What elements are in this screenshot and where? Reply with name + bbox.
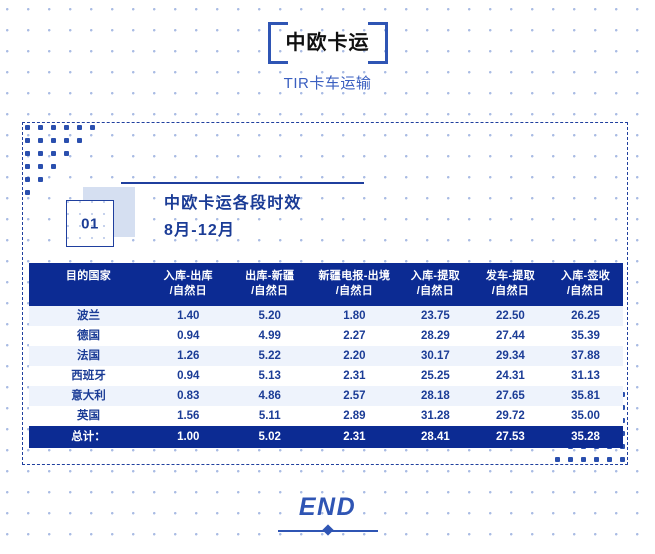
cell-country: 英国 xyxy=(29,406,148,426)
cell-v6: 35.81 xyxy=(548,386,623,406)
cell-v5: 22.50 xyxy=(473,306,548,326)
cell-v3: 2.20 xyxy=(311,346,398,366)
cell-v6: 26.25 xyxy=(548,306,623,326)
cell-v5: 29.34 xyxy=(473,346,548,366)
cell-country: 意大利 xyxy=(29,386,148,406)
end-marker: END xyxy=(0,495,655,520)
cell-total-v1: 1.00 xyxy=(148,426,229,448)
cell-v3: 2.27 xyxy=(311,326,398,346)
cell-v2: 5.13 xyxy=(229,366,311,386)
column-header-xinjiang-exit: 新疆电报-出境/自然日 xyxy=(311,263,398,306)
cell-v1: 0.94 xyxy=(148,366,229,386)
cell-v1: 0.94 xyxy=(148,326,229,346)
cell-v2: 4.86 xyxy=(229,386,311,406)
table-header-row: 目的国家 入库-出库/自然日 出库-新疆/自然日 新疆电报-出境/自然日 入库-… xyxy=(29,263,623,306)
cell-v2: 4.99 xyxy=(229,326,311,346)
column-header-outbound-xinjiang: 出库-新疆/自然日 xyxy=(229,263,311,306)
section-heading-line1: 中欧卡运各段时效 xyxy=(164,190,364,217)
cell-country: 西班牙 xyxy=(29,366,148,386)
cell-total-v6: 35.28 xyxy=(548,426,623,448)
cell-v6: 35.39 xyxy=(548,326,623,346)
cell-v2: 5.22 xyxy=(229,346,311,366)
slide-header: 中欧卡运 TIR卡车运输 xyxy=(0,0,655,101)
badge-box: 01 xyxy=(66,200,114,247)
cell-v1: 0.83 xyxy=(148,386,229,406)
section-heading-text: 中欧卡运各段时效 8月-12月 xyxy=(164,190,364,244)
cell-v4: 25.25 xyxy=(398,366,473,386)
cell-v1: 1.26 xyxy=(148,346,229,366)
cell-country: 法国 xyxy=(29,346,148,366)
column-header-inbound-outbound: 入库-出库/自然日 xyxy=(148,263,229,306)
cell-total-v3: 2.31 xyxy=(311,426,398,448)
column-header-inbound-pickup: 入库-提取/自然日 xyxy=(398,263,473,306)
cell-v5: 24.31 xyxy=(473,366,548,386)
timings-table: 目的国家 入库-出库/自然日 出库-新疆/自然日 新疆电报-出境/自然日 入库-… xyxy=(29,263,623,448)
cell-v5: 27.65 xyxy=(473,386,548,406)
page-subtitle: TIR卡车运输 xyxy=(0,72,655,93)
table-row: 德国 0.94 4.99 2.27 28.29 27.44 35.39 xyxy=(29,326,623,346)
table-row: 意大利 0.83 4.86 2.57 28.18 27.65 35.81 xyxy=(29,386,623,406)
cell-v4: 28.29 xyxy=(398,326,473,346)
cell-total-v5: 27.53 xyxy=(473,426,548,448)
column-header-country: 目的国家 xyxy=(29,263,148,306)
cell-v1: 1.40 xyxy=(148,306,229,326)
cell-v3: 2.89 xyxy=(311,406,398,426)
cell-v4: 30.17 xyxy=(398,346,473,366)
cell-v6: 37.88 xyxy=(548,346,623,366)
table-row: 法国 1.26 5.22 2.20 30.17 29.34 37.88 xyxy=(29,346,623,366)
cell-v3: 2.31 xyxy=(311,366,398,386)
cell-v5: 27.44 xyxy=(473,326,548,346)
cell-total-label: 总计： xyxy=(29,426,148,448)
column-header-inbound-signed: 入库-签收/自然日 xyxy=(548,263,623,306)
cell-v4: 23.75 xyxy=(398,306,473,326)
section-number-badge: 01 xyxy=(66,190,128,250)
cell-v3: 2.57 xyxy=(311,386,398,406)
table-total-row: 总计： 1.00 5.02 2.31 28.41 27.53 35.28 xyxy=(29,426,623,448)
table-body: 波兰 1.40 5.20 1.80 23.75 22.50 26.25 德国 0… xyxy=(29,306,623,448)
badge-number: 01 xyxy=(67,215,113,232)
cell-v6: 35.00 xyxy=(548,406,623,426)
section-heading-underline xyxy=(121,182,364,184)
cell-total-v2: 5.02 xyxy=(229,426,311,448)
cell-v4: 28.18 xyxy=(398,386,473,406)
cell-v2: 5.20 xyxy=(229,306,311,326)
table-row: 西班牙 0.94 5.13 2.31 25.25 24.31 31.13 xyxy=(29,366,623,386)
title-badge: 中欧卡运 xyxy=(268,22,388,64)
cell-total-v4: 28.41 xyxy=(398,426,473,448)
table-row: 波兰 1.40 5.20 1.80 23.75 22.50 26.25 xyxy=(29,306,623,326)
cell-v6: 31.13 xyxy=(548,366,623,386)
table-row: 英国 1.56 5.11 2.89 31.28 29.72 35.00 xyxy=(29,406,623,426)
content-panel: 01 中欧卡运各段时效 8月-12月 目的国家 入库-出库/自然日 出库-新疆/… xyxy=(22,122,628,465)
section-heading-line2: 8月-12月 xyxy=(164,217,364,244)
cell-v2: 5.11 xyxy=(229,406,311,426)
cell-v3: 1.80 xyxy=(311,306,398,326)
end-label: END xyxy=(0,495,655,520)
cell-country: 波兰 xyxy=(29,306,148,326)
column-header-departure-pickup: 发车-提取/自然日 xyxy=(473,263,548,306)
page-title: 中欧卡运 xyxy=(268,33,388,53)
cell-country: 德国 xyxy=(29,326,148,346)
cell-v1: 1.56 xyxy=(148,406,229,426)
cell-v5: 29.72 xyxy=(473,406,548,426)
cell-v4: 31.28 xyxy=(398,406,473,426)
